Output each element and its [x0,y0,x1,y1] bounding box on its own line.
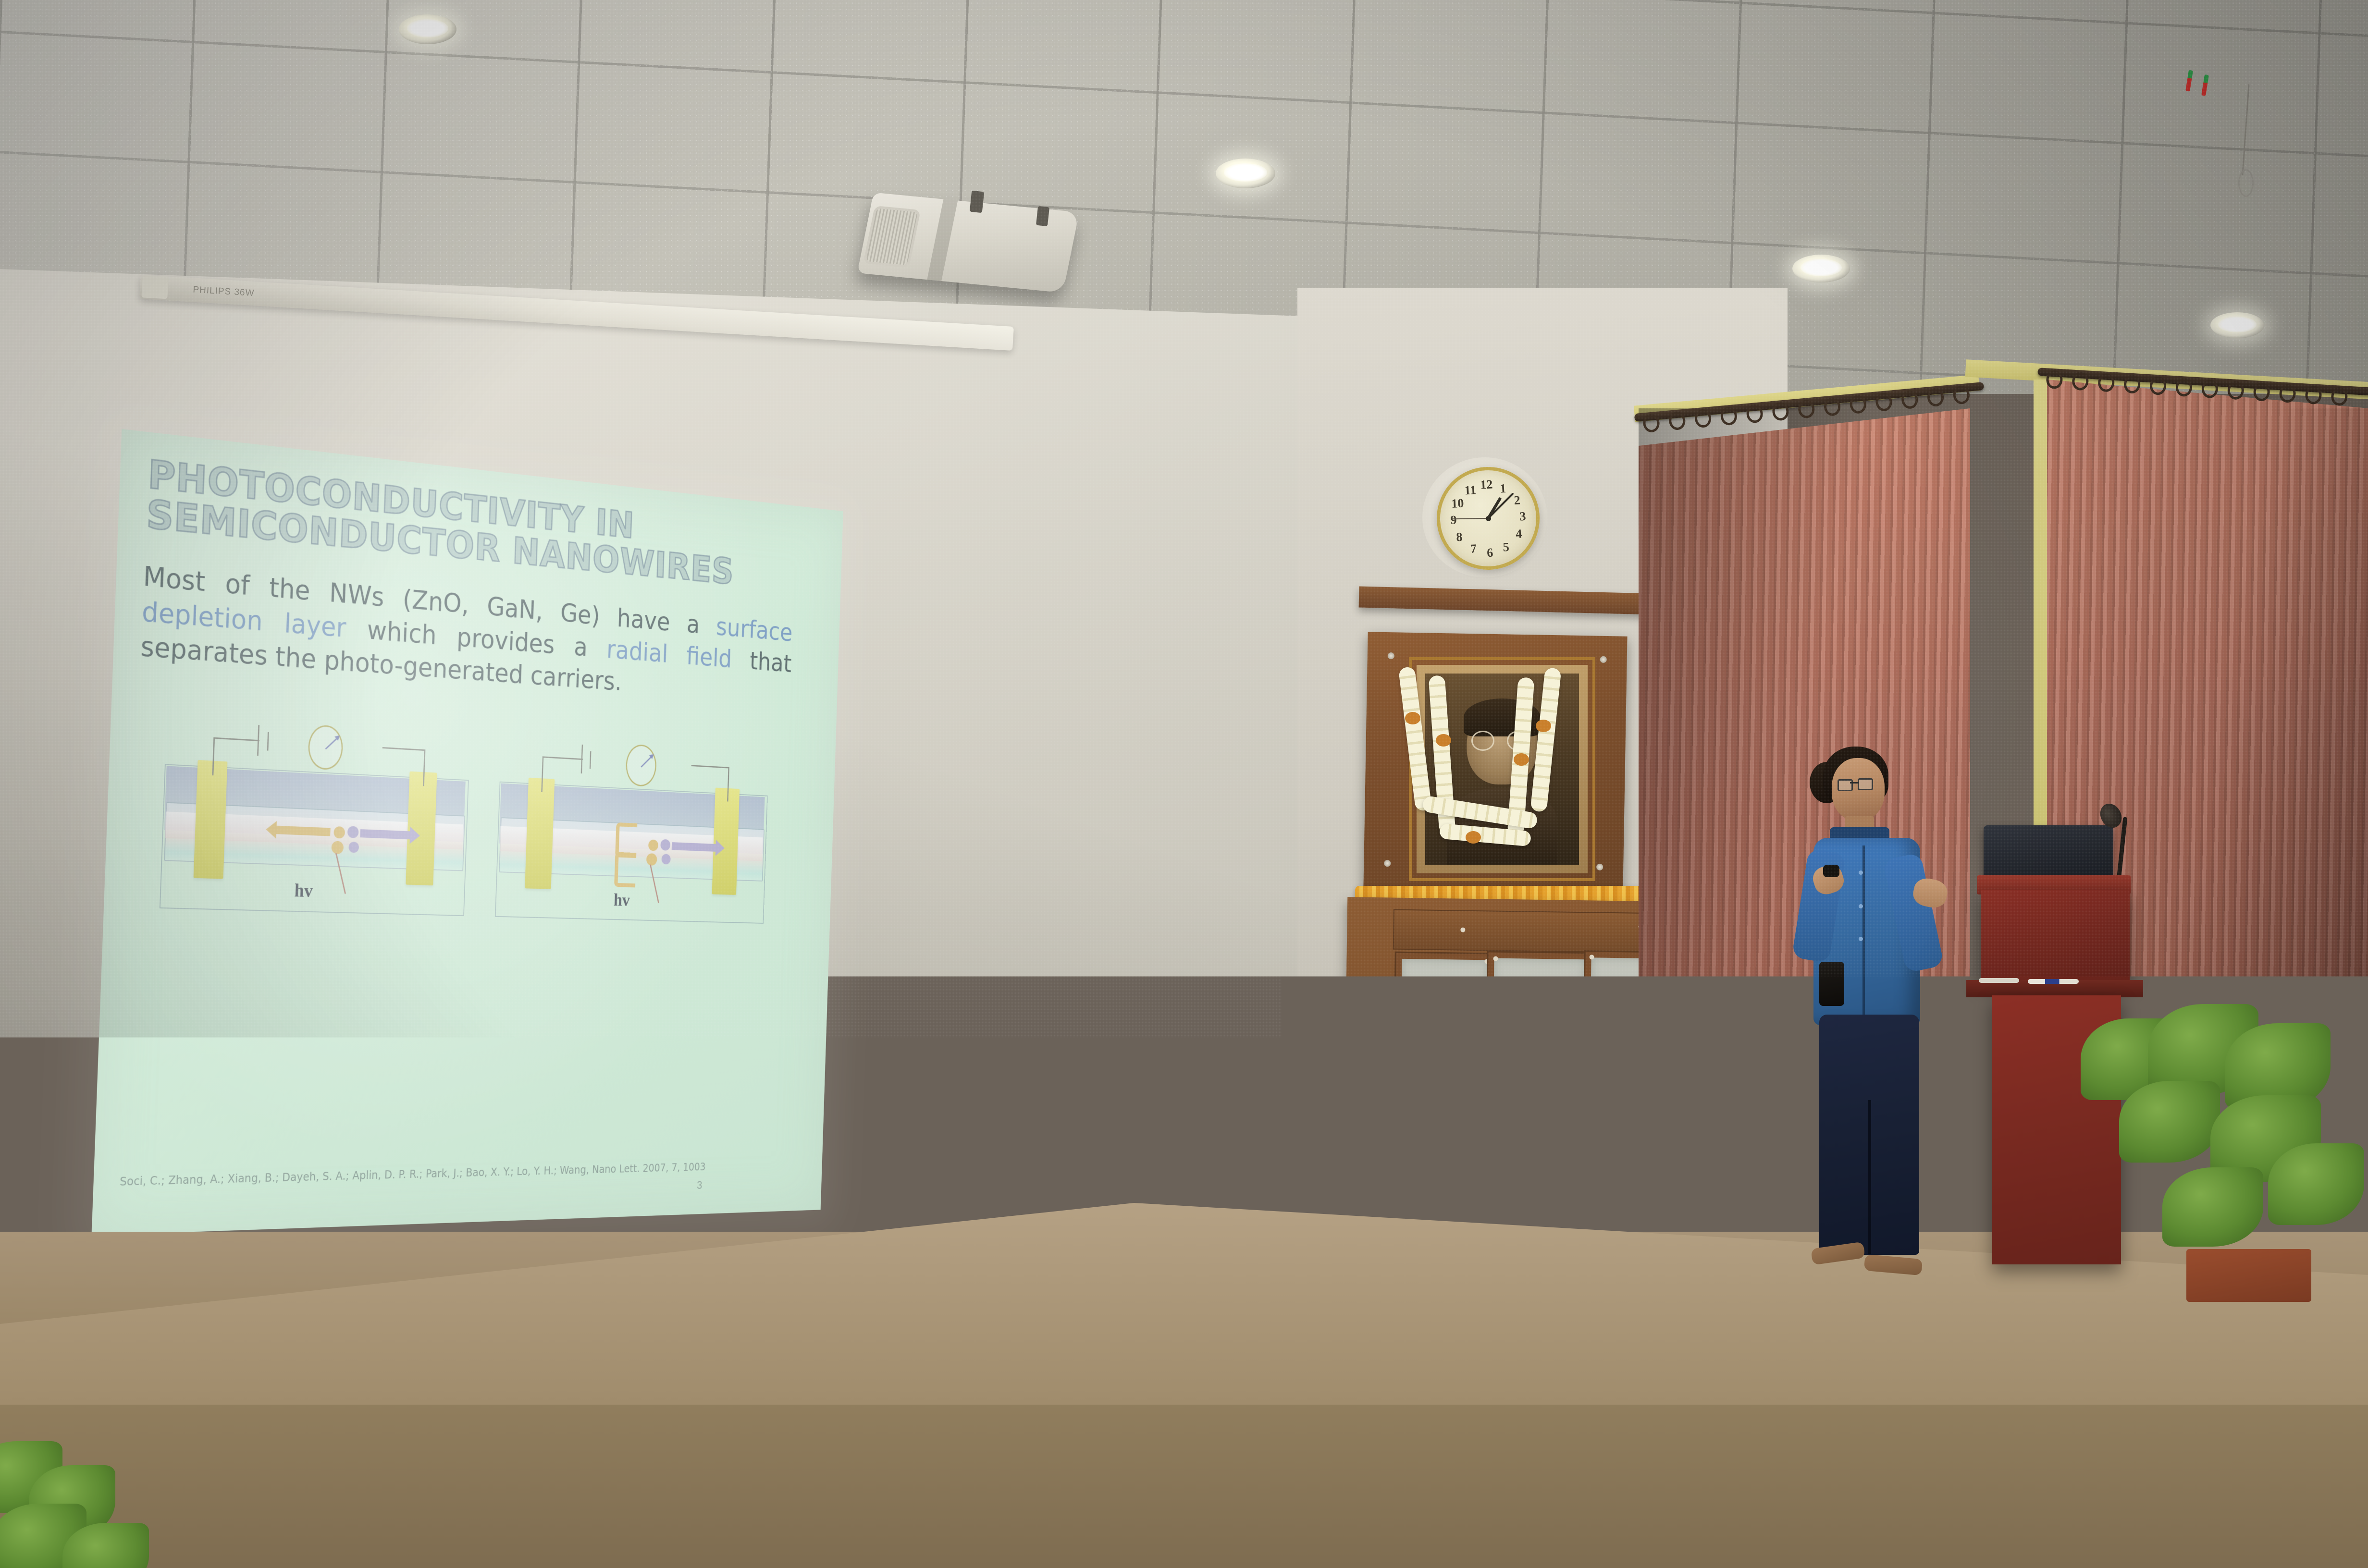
lamp-bead [1986,1300,2021,1330]
lamp-oil-dish [1970,1153,2047,1172]
garland-strand [1530,667,1561,812]
board-screw [1388,652,1394,659]
lamp-bead [1988,1206,2018,1232]
curtain-ring [2279,384,2296,403]
board-screw [1596,864,1603,870]
downlight-icon [399,14,456,44]
plant-pot [2186,1249,2311,1302]
curtain-ring [2123,375,2141,394]
marigold-bud [1514,753,1529,766]
pen[interactable] [1979,978,2019,983]
clock-number: 7 [1470,541,1477,556]
tube-light-label: PHILIPS 36W [193,285,255,299]
downlight-icon [2210,312,2264,338]
curtain-ring [1901,390,1919,409]
flower-garland [1394,662,1595,893]
curtain-ring [2072,372,2089,391]
curtain-ring [2046,370,2063,389]
sandal-right [1864,1254,1923,1275]
clock-number: 6 [1486,546,1493,561]
lamp-bead [1985,1440,2025,1474]
clock-number: 12 [1480,477,1493,492]
downlight-icon [1792,255,1850,282]
cabinet-door[interactable] [1484,951,1593,1178]
marigold-bud [1466,831,1481,844]
curtain-ring [2149,376,2167,395]
curtain-ring [2305,385,2322,404]
lamp-bead [1983,1516,2027,1553]
shirt-button [1859,870,1863,875]
curtain-ring [1926,388,1944,407]
clock-number: 3 [1519,509,1527,524]
marigold-bud [1436,734,1451,747]
display-cabinet [1344,897,1674,1194]
shirt-button [1859,937,1863,941]
lamp-bead [1987,1236,2019,1263]
curtain-ring [1875,392,1893,412]
cabinet-glass-pane [1491,958,1585,1171]
downlight-icon [1216,159,1275,188]
clock-number: 11 [1464,483,1477,498]
board-screw [1600,656,1607,663]
curtain-ring [2331,387,2348,406]
presenter [1773,735,1975,1311]
curtain-ring [1642,413,1660,433]
cabinet-drawer [1393,909,1665,954]
cabinet-glass-pane [1399,959,1488,1171]
clock-number: 1 [1500,481,1507,496]
projector-mount [1036,206,1049,226]
shirt-button [1859,904,1863,908]
curtain-ring [1720,406,1738,426]
marker-pen[interactable] [2028,979,2079,984]
lamp-bead [1990,1180,2016,1203]
wire-loop [2238,169,2254,197]
curtain-ring [1798,399,1815,419]
clock-number: 10 [1451,496,1465,511]
curtain-ring [1952,385,1970,405]
lamp-bead [1984,1478,2026,1512]
glasses-left-lens [1838,779,1853,791]
glasses-bridge [1850,782,1859,784]
curtain-ring [1694,409,1712,429]
curtain-ring [2253,382,2270,402]
presentation-clicker[interactable] [1823,865,1839,877]
garland-strand [1398,666,1432,811]
glasses-right-lens [1858,778,1873,790]
belt-pouch [1819,962,1844,1006]
cabinet-knob [1460,928,1465,932]
curtain-ring [1668,411,1686,431]
lamp-bead [1986,1267,2020,1296]
curtain-ring [1746,404,1764,424]
foliage-cluster [2162,1167,2263,1247]
curtain-ring [1772,402,1789,421]
clock-minute-hand [1488,492,1514,519]
clock-number: 9 [1450,513,1457,527]
cabinet-door[interactable] [1392,952,1496,1179]
marigold-bud [1536,720,1551,732]
potted-plant-right [2066,1009,2368,1345]
presentation-slide: PHOTOCONDUCTIVITY IN SEMICONDUCTOR NANOW… [91,429,843,1236]
projector-mount [970,191,984,213]
curtain-ring [1823,397,1841,416]
foliage-cluster [2119,1081,2220,1163]
projector-lens-icon [863,206,921,268]
cabinet-door-knob[interactable] [1493,956,1498,961]
clock-number: 2 [1514,493,1521,508]
clock-number: 8 [1456,530,1463,545]
curtain-ring [2175,378,2193,397]
cabinet-door-knob[interactable] [1590,955,1594,959]
curtain-ring [2227,381,2245,400]
tube-light-cap [141,276,169,299]
clock-number: 5 [1503,540,1510,555]
clock-second-hand [1452,518,1488,519]
foliage-cluster [2268,1143,2364,1225]
ribbon-decoration-icon [2184,70,2218,103]
slide-light-glow [91,429,843,1236]
projection-screen: PHOTOCONDUCTIVITY IN SEMICONDUCTOR NANOW… [91,429,843,1236]
lamp-bead [1986,1334,2022,1364]
curtain-ring [1849,394,1867,414]
board-screw [1384,860,1391,867]
lamp-bead [1985,1404,2024,1436]
curtain-ring [2097,373,2115,392]
lamp-bead [1986,1368,2023,1400]
brass-oil-lamp [1965,1153,2057,1566]
shirt-placket [1862,845,1865,1018]
trouser-seam [1868,1100,1871,1254]
laptop-screen[interactable] [1984,825,2113,877]
clock-center-pin [1486,516,1492,522]
potted-plant-left [0,1436,173,1568]
projector-band [927,199,958,281]
marigold-bud [1405,712,1420,724]
conference-hall-photo: PHILIPS 36W PHOTOCONDUCTIVITY IN SEMICON… [0,0,2368,1568]
clock-number: 4 [1516,527,1523,541]
lectern [1981,890,2130,981]
curtain-ring [2201,380,2219,399]
